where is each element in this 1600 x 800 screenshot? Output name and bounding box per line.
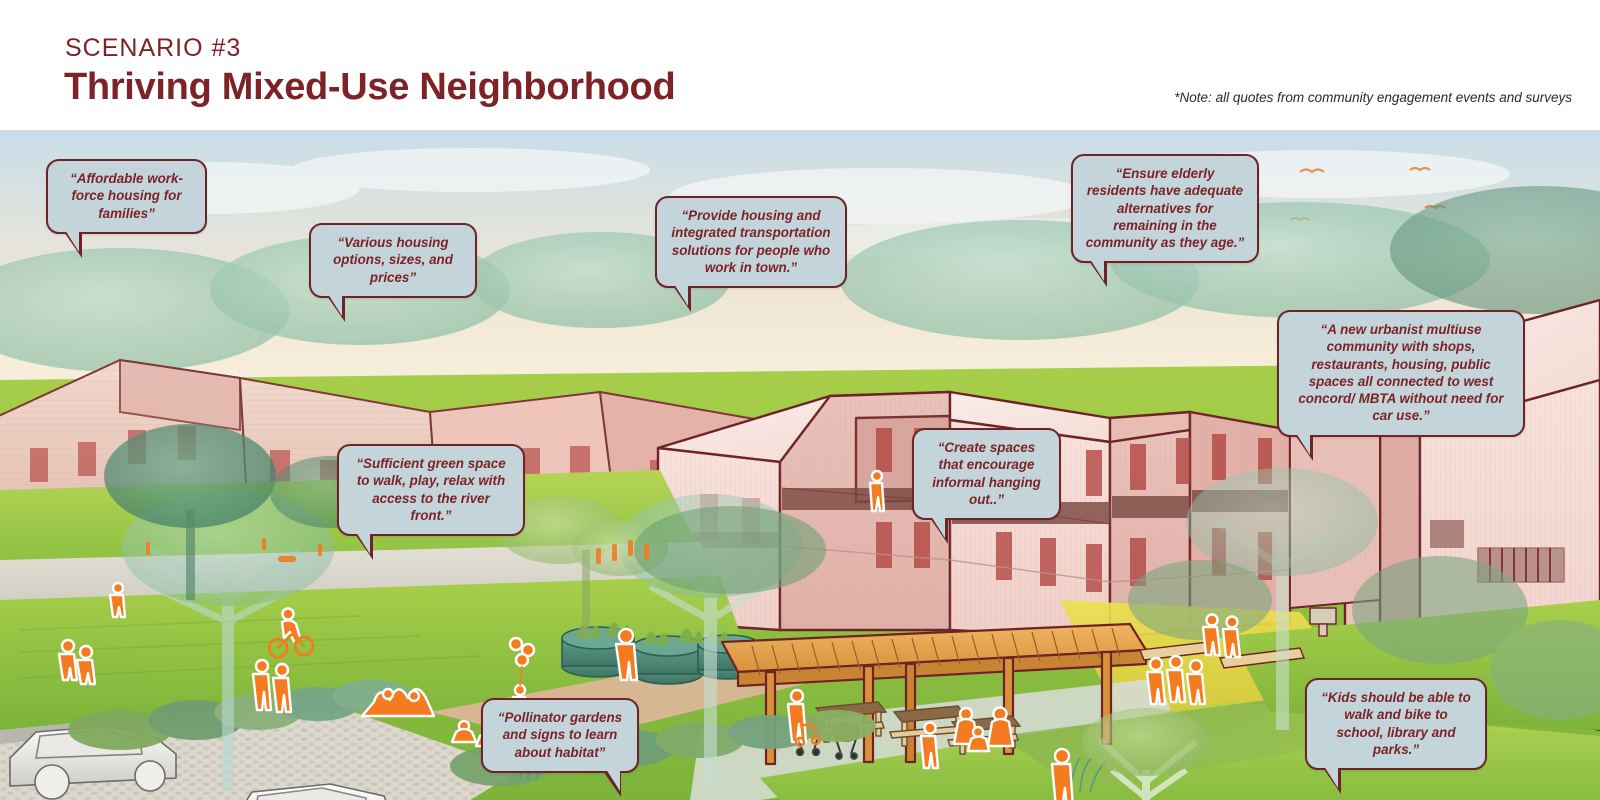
person: [1167, 656, 1185, 702]
quote-bubble-elderly-residents[interactable]: “Ensure elderly residents have adequate …: [1071, 154, 1259, 263]
person: [77, 646, 95, 684]
bubble-tail-fill: [65, 230, 79, 252]
bubble-tail-fill: [356, 532, 370, 554]
quote-bubble-pollinator-gardens[interactable]: “Pollinator gardens and signs to learn a…: [481, 698, 639, 773]
quote-bubble-housing-options[interactable]: “Various housing options, sizes, and pri…: [309, 223, 477, 298]
quote-text: “Provide housing and integrated transpor…: [671, 208, 830, 275]
quote-text: “Pollinator gardens and signs to learn a…: [498, 710, 622, 760]
bubble-tail-fill: [674, 284, 688, 306]
quote-bubble-new-urbanist[interactable]: “A new urbanist multiuse community with …: [1277, 310, 1525, 437]
person: [110, 583, 125, 617]
person: [1147, 658, 1165, 704]
person: [921, 723, 938, 769]
scenario-kicker: SCENARIO #3: [65, 34, 241, 63]
quote-bubble-transportation[interactable]: “Provide housing and integrated transpor…: [655, 196, 847, 288]
bubble-tail-fill: [1090, 259, 1104, 281]
bubble-tail-fill: [606, 769, 620, 791]
bubble-tail-fill: [1296, 433, 1310, 455]
person: [273, 664, 291, 712]
quote-text: “Kids should be able to walk and bike to…: [1321, 690, 1471, 757]
quote-text: “Sufficient green space to walk, play, r…: [356, 456, 505, 523]
bubble-tail-fill: [931, 516, 945, 538]
bubble-tail-fill: [1324, 766, 1338, 788]
quote-text: “Various housing options, sizes, and pri…: [333, 235, 453, 285]
bubble-tail-fill: [328, 294, 342, 316]
footnote-quotes-source: *Note: all quotes from community engagem…: [1174, 90, 1572, 105]
person: [616, 629, 637, 680]
person: [1223, 617, 1240, 658]
page-title: Thriving Mixed-Use Neighborhood: [64, 66, 675, 109]
quote-bubble-kids-walk-bike[interactable]: “Kids should be able to walk and bike to…: [1305, 678, 1487, 770]
person: [1052, 749, 1073, 800]
person: [253, 660, 271, 710]
person-on-balcony: [870, 471, 884, 511]
quote-text: “A new urbanist multiuse community with …: [1298, 322, 1503, 423]
person: [1187, 660, 1205, 704]
quote-bubble-informal-hangout[interactable]: “Create spaces that encourage informal h…: [912, 428, 1061, 520]
quote-text: “Affordable work-force housing for famil…: [70, 171, 183, 221]
slide-header: SCENARIO #3 Thriving Mixed-Use Neighborh…: [0, 0, 1600, 130]
person: [1203, 615, 1220, 656]
quote-bubble-affordable-housing[interactable]: “Affordable work-force housing for famil…: [46, 159, 207, 234]
quote-bubble-green-space[interactable]: “Sufficient green space to walk, play, r…: [337, 444, 525, 536]
quote-text: “Create spaces that encourage informal h…: [932, 440, 1041, 507]
person: [59, 640, 77, 680]
person: [788, 690, 806, 742]
presentation-slide: SCENARIO #3 Thriving Mixed-Use Neighborh…: [0, 0, 1600, 800]
quote-text: “Ensure elderly residents have adequate …: [1086, 166, 1245, 250]
